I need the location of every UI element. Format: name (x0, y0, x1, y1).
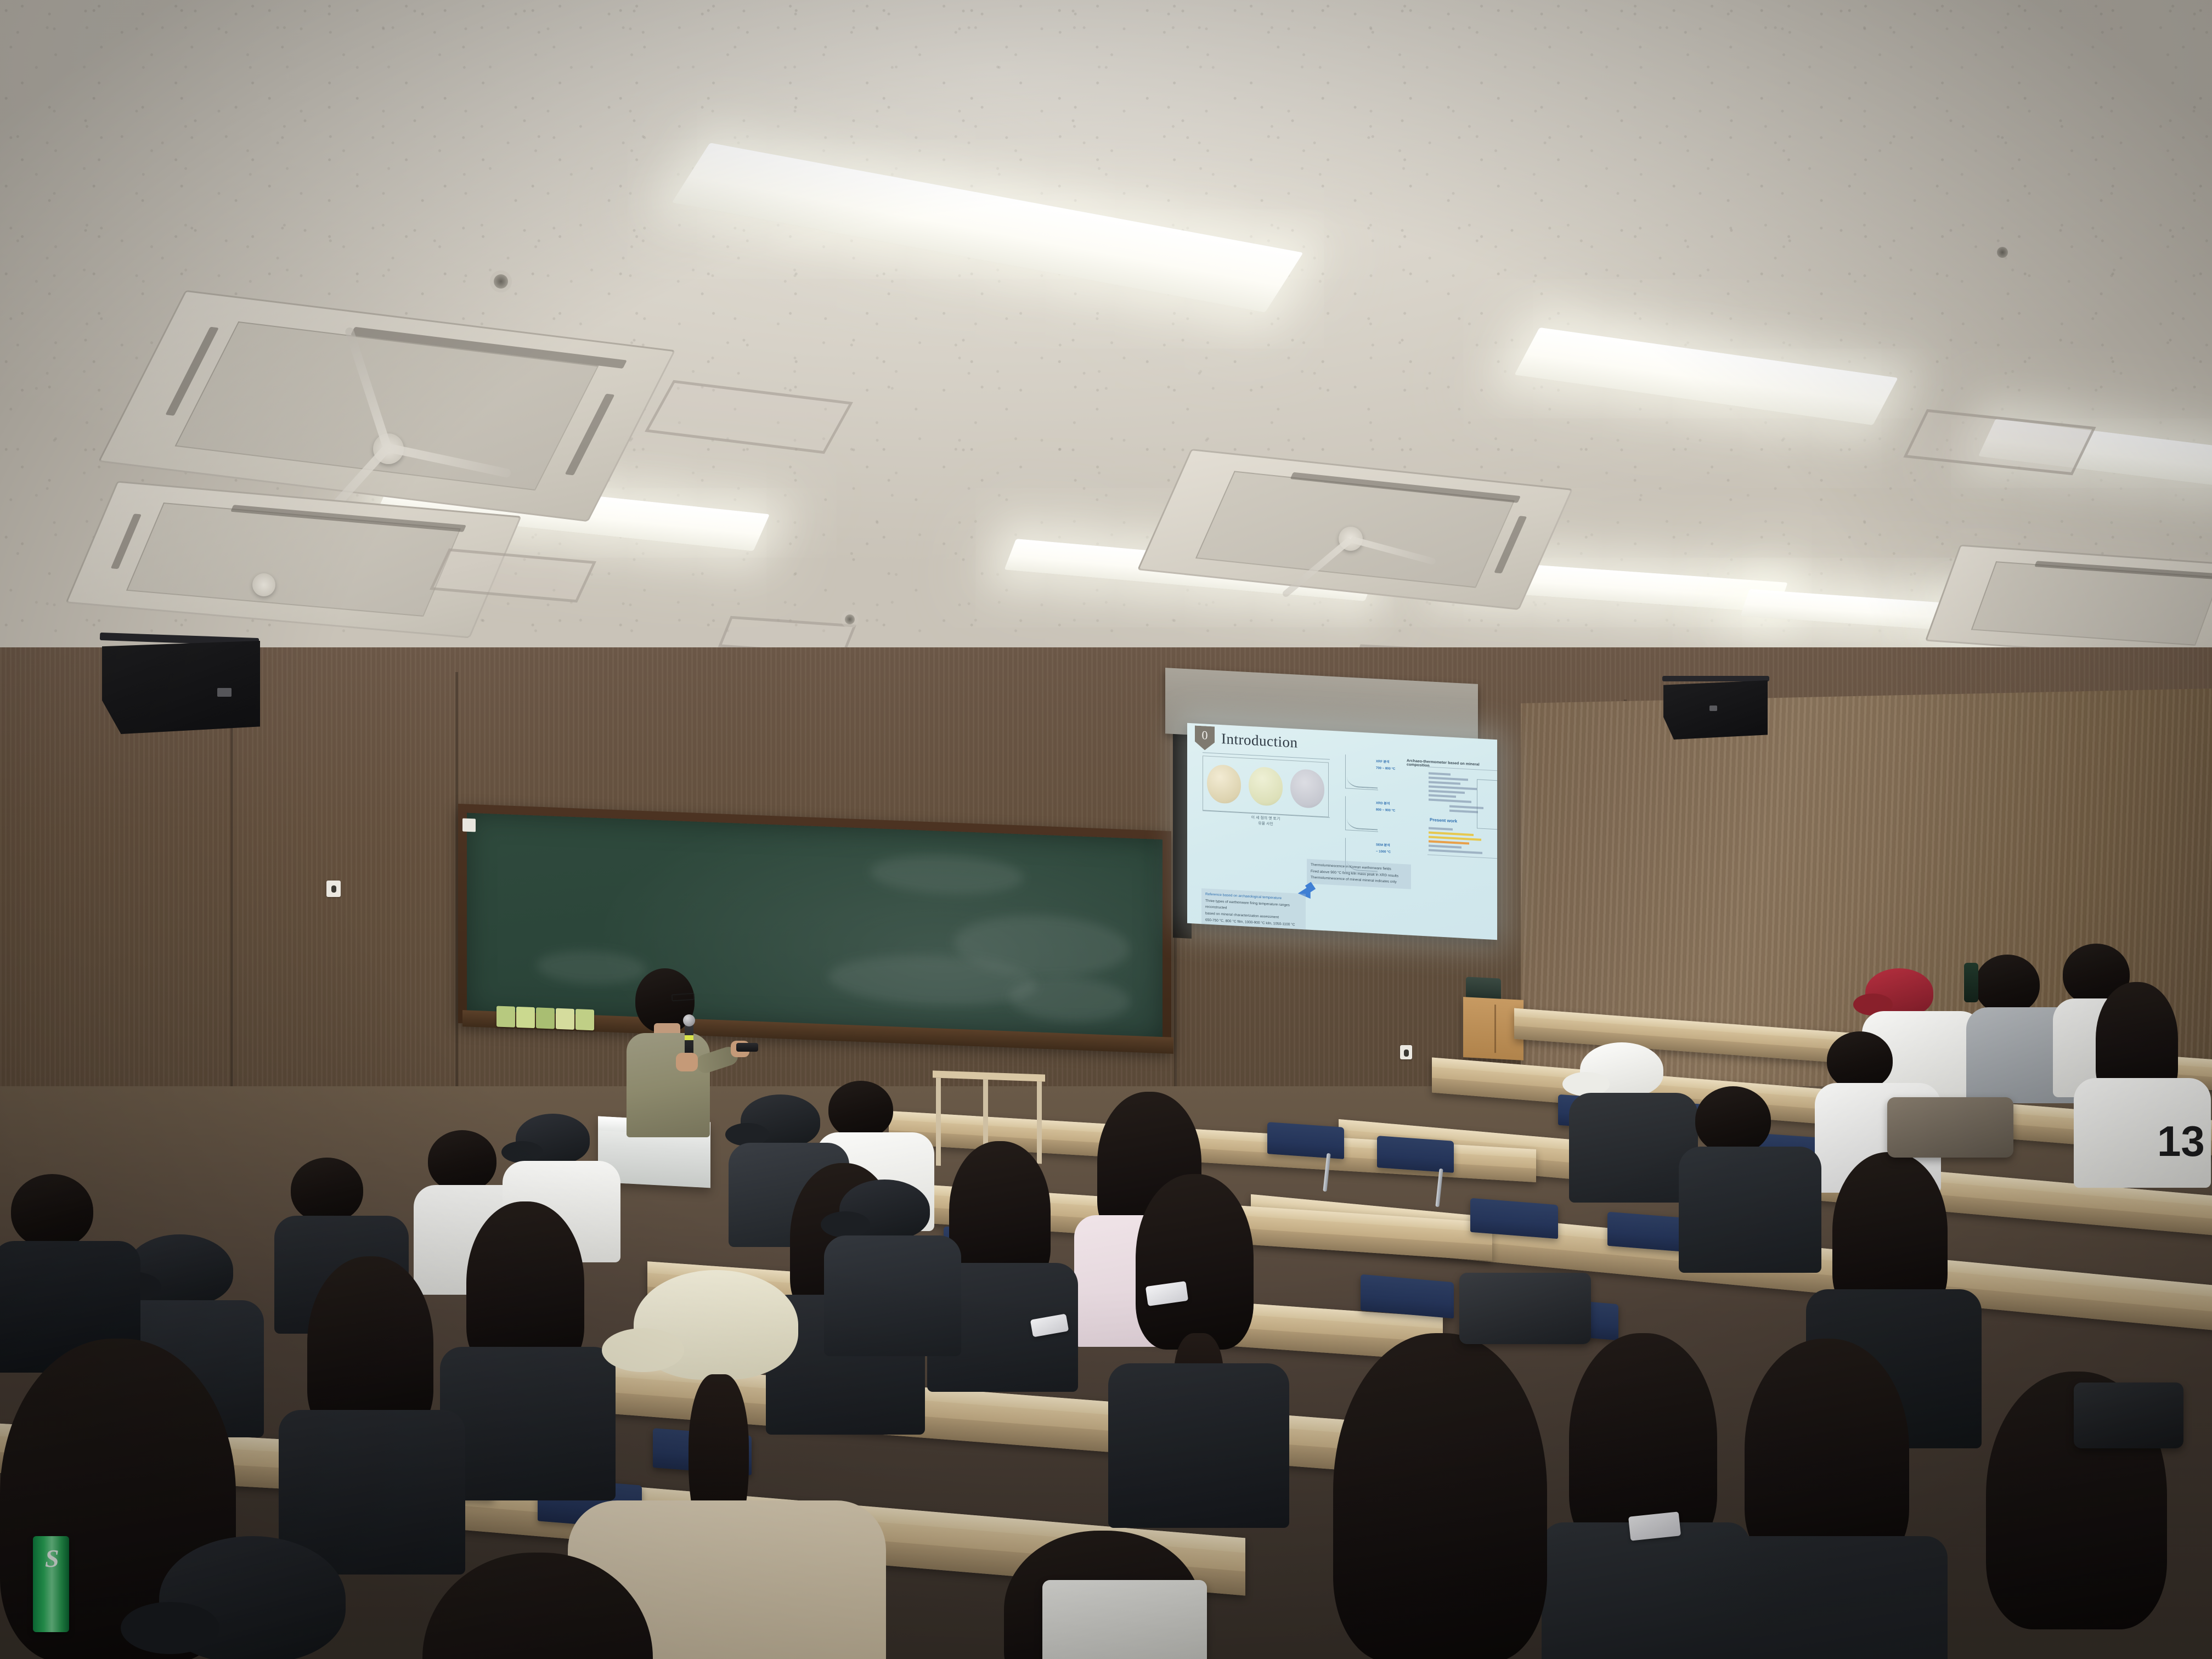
presenter-hand-mic (676, 1053, 698, 1071)
slide-spectrum-1 (1345, 754, 1378, 790)
wall-outlet-left (326, 881, 341, 897)
chair[interactable] (1377, 1136, 1454, 1173)
microphone[interactable] (685, 1021, 693, 1057)
lecture-hall-scene: 0 Introduction 이 세 점의 옛 토기 유물 사진 XRF 분석 … (0, 0, 2212, 1659)
chart-bar (1429, 799, 1471, 803)
chart-bar (1429, 849, 1482, 854)
chart-legend (1477, 779, 1497, 830)
black-baseball-cap (839, 1180, 930, 1240)
slide-spectrum-1-label-b: 700 ~ 800 °C (1376, 766, 1395, 772)
speaker-right (1663, 680, 1768, 740)
chart-bar (1449, 810, 1478, 814)
soda-can-logo: S (45, 1544, 59, 1573)
ceiling-fan-hub-2 (252, 573, 275, 596)
chart-bar-highlight (1429, 840, 1469, 845)
chalk-box (575, 1009, 594, 1030)
sprinkler-head-1 (494, 274, 508, 289)
chalk-box (496, 1006, 515, 1027)
speaker-logo-icon (217, 688, 232, 697)
student-hair (1136, 1174, 1254, 1350)
chart-bar (1429, 790, 1465, 794)
chart-bar (1429, 786, 1477, 791)
slide-spectrum-2-label-a: XRD 분석 (1376, 801, 1390, 807)
chalk-box (516, 1007, 535, 1028)
chart-bar-highlight (1429, 832, 1474, 836)
backpack[interactable] (1887, 1097, 2013, 1158)
slide-artifact-photos (1203, 755, 1329, 817)
student-torso (440, 1347, 616, 1500)
slide-callout-box: Thermoluminescence in Korean earthenware… (1307, 859, 1411, 889)
presenter (614, 968, 741, 1149)
speaker-logo-icon (1709, 706, 1717, 711)
student-head (828, 1081, 893, 1138)
backpack[interactable] (2074, 1383, 2183, 1448)
student-torso (1542, 1522, 1750, 1659)
tote-bag[interactable] (1042, 1580, 1207, 1659)
student-head (428, 1130, 496, 1192)
student-head (1827, 1031, 1893, 1090)
slide-spectrum-2 (1345, 796, 1378, 832)
presentation-clicker[interactable] (736, 1043, 758, 1052)
slide-title: Introduction (1221, 730, 1297, 752)
white-baseball-cap (1580, 1042, 1663, 1097)
slide-spectrum-3-label-b: ~ 1000 °C (1376, 849, 1391, 855)
speaker-left (102, 641, 260, 734)
blackboard-surface (467, 813, 1163, 1042)
laptop-bag[interactable] (1459, 1273, 1591, 1344)
speaker-bracket-right (1662, 676, 1769, 681)
chart-bar (1429, 827, 1453, 831)
slide-spectrum-1-label-a: XRF 분석 (1376, 759, 1390, 765)
black-baseball-cap (516, 1114, 590, 1164)
artifact-photo-3 (1290, 769, 1324, 809)
board-eraser (462, 819, 476, 832)
student-head (291, 1158, 363, 1222)
black-baseball-cap (126, 1234, 233, 1306)
student-hair (1333, 1333, 1547, 1659)
black-baseball-cap (741, 1094, 820, 1147)
soda-can[interactable]: S (33, 1536, 69, 1632)
chart-bar (1429, 781, 1460, 785)
chart-bar (1429, 777, 1468, 781)
sprinkler-head-2 (1997, 247, 2008, 258)
present-work-label: Present work (1430, 817, 1457, 824)
presenter-torso (627, 1033, 710, 1137)
red-baseball-cap (1865, 968, 1933, 1017)
microphone-capsule (683, 1014, 695, 1026)
projection-screen: 0 Introduction 이 세 점의 옛 토기 유물 사진 XRF 분석 … (1187, 723, 1497, 940)
wall-outlet-right (1400, 1045, 1412, 1059)
jersey-number: 13 (2157, 1116, 2205, 1166)
artifact-photo-2 (1249, 766, 1283, 806)
chart-bar (1429, 772, 1451, 776)
student-head (1975, 955, 2040, 1014)
student-torso (824, 1235, 961, 1356)
student-head (1695, 1086, 1771, 1154)
student-hair (466, 1201, 584, 1372)
slide-section-badge: 0 (1195, 725, 1215, 751)
artifact-photo-1 (1207, 764, 1241, 804)
chart-bar (1429, 794, 1456, 798)
slide-spectrum-2-label-b: 800 ~ 900 °C (1376, 808, 1395, 814)
chalk-box (536, 1007, 555, 1029)
student-torso (1108, 1363, 1289, 1528)
chair[interactable] (1267, 1122, 1344, 1159)
slide-spectrum-3-label-a: SEM 분석 (1376, 843, 1390, 849)
sprinkler-head-3 (845, 614, 855, 624)
student-head (11, 1174, 93, 1248)
chart-bar (1429, 845, 1462, 849)
chalk-box (556, 1008, 574, 1030)
student-hair (1745, 1339, 1909, 1569)
chair[interactable] (1470, 1198, 1558, 1239)
water-bottle[interactable] (1964, 963, 1978, 1002)
student-torso (1679, 1147, 1821, 1273)
cream-baseball-cap (634, 1270, 798, 1380)
black-baseball-cap (159, 1536, 346, 1659)
